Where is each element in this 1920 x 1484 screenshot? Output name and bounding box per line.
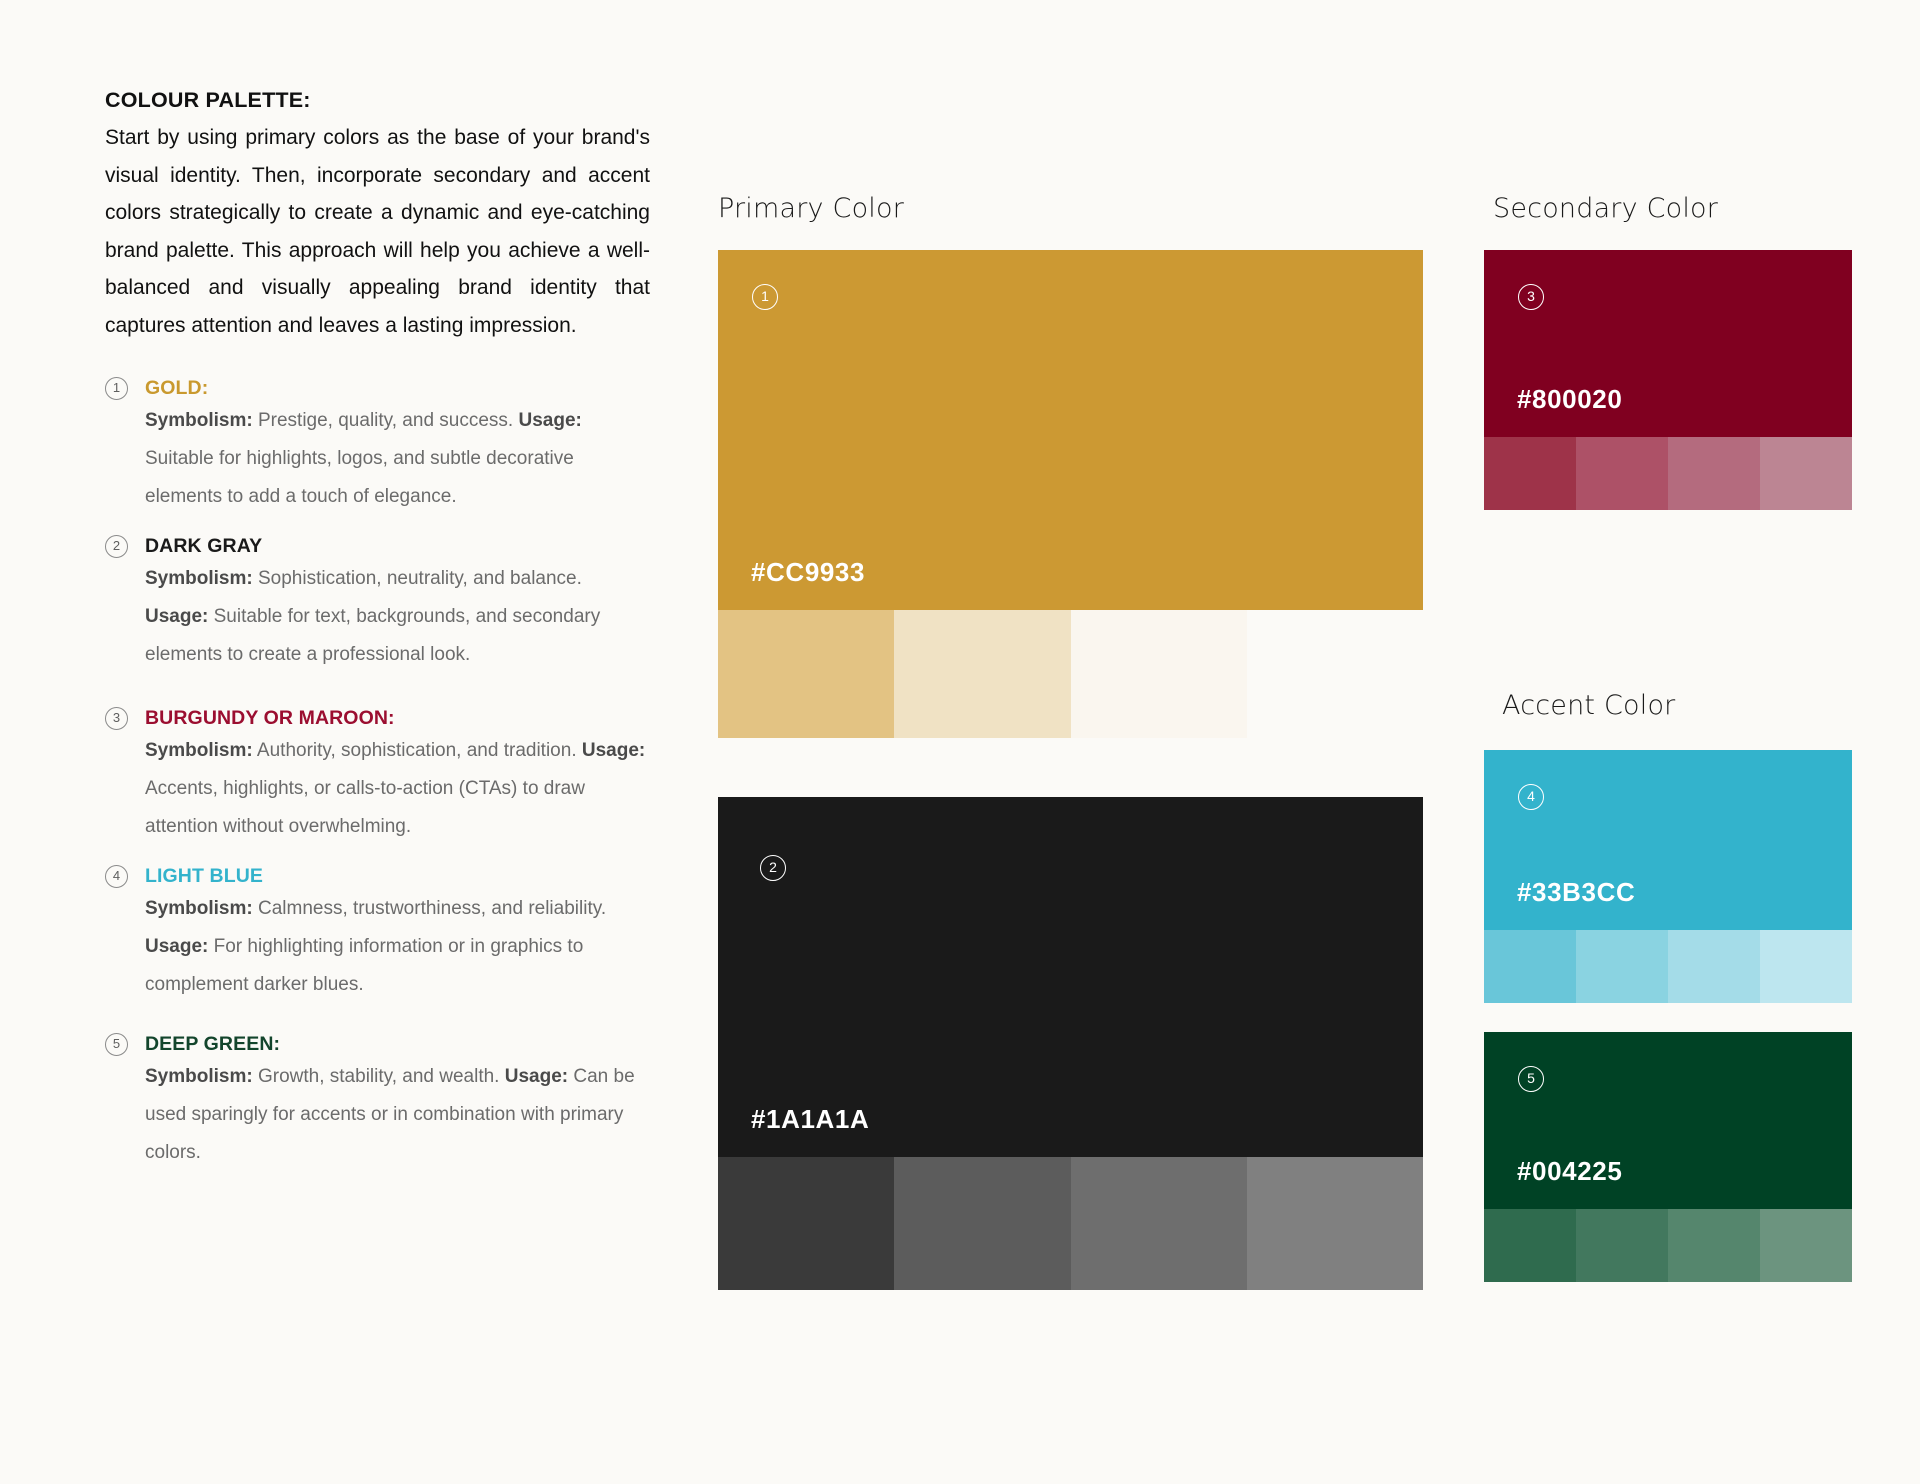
secondary-tint-row xyxy=(1484,437,1852,510)
hex-value: #004225 xyxy=(1517,1156,1622,1187)
usage-label: Usage: xyxy=(145,936,208,957)
swatch-number-badge: 4 xyxy=(1518,784,1544,810)
hex-value: #800020 xyxy=(1517,384,1622,415)
primary-color-swatch: 1 #CC9933 xyxy=(718,250,1423,738)
entry-number-badge: 2 xyxy=(105,535,128,558)
entry-number-badge: 4 xyxy=(105,865,128,888)
palette-description-column: COLOUR PALETTE: Start by using primary c… xyxy=(105,88,650,1188)
usage-text: Suitable for text, backgrounds, and seco… xyxy=(145,606,600,665)
hex-value: #CC9933 xyxy=(751,557,865,588)
tint-swatch xyxy=(718,1157,894,1290)
entry-description: Symbolism: Sophistication, neutrality, a… xyxy=(145,560,650,674)
hex-value: #1A1A1A xyxy=(751,1104,869,1135)
usage-label: Usage: xyxy=(505,1066,568,1087)
deep-green-tint-row xyxy=(1484,1209,1852,1282)
secondary-color-swatch: 3 #800020 xyxy=(1484,250,1852,510)
usage-text: For highlighting information or in graph… xyxy=(145,936,583,995)
deep-green-swatch-main: 5 #004225 xyxy=(1484,1032,1852,1209)
usage-label: Usage: xyxy=(582,740,645,761)
tint-swatch xyxy=(1576,930,1668,1003)
tint-swatch xyxy=(1668,930,1760,1003)
light-blue-swatch-main: 4 #33B3CC xyxy=(1484,750,1852,930)
entry-description: Symbolism: Growth, stability, and wealth… xyxy=(145,1058,650,1172)
list-item: 3 BURGUNDY OR MAROON: Symbolism: Authori… xyxy=(105,704,650,846)
symbolism-text: Prestige, quality, and success. xyxy=(253,410,514,431)
intro-paragraph: Start by using primary colors as the bas… xyxy=(105,119,650,344)
page-title: COLOUR PALETTE: xyxy=(105,88,650,113)
dark-gray-tint-row xyxy=(718,1157,1423,1290)
list-item: 4 LIGHT BLUE Symbolism: Calmness, trustw… xyxy=(105,862,650,1004)
entry-number-badge: 1 xyxy=(105,377,128,400)
usage-text: Accents, highlights, or calls-to-action … xyxy=(145,778,585,837)
entry-number-badge: 5 xyxy=(105,1033,128,1056)
tint-swatch xyxy=(1071,1157,1247,1290)
light-blue-swatch: 4 #33B3CC xyxy=(1484,750,1852,1003)
swatch-number-badge: 1 xyxy=(752,284,778,310)
entry-number-badge: 3 xyxy=(105,707,128,730)
swatch-number-badge: 2 xyxy=(760,855,786,881)
entry-title: DARK GRAY xyxy=(145,532,650,560)
symbolism-label: Symbolism: xyxy=(145,1066,253,1087)
tint-swatch xyxy=(1576,437,1668,510)
symbolism-text: Calmness, trustworthiness, and reliabili… xyxy=(253,898,606,919)
symbolism-label: Symbolism: xyxy=(145,898,253,919)
tint-swatch xyxy=(1484,930,1576,1003)
list-item: 1 GOLD: Symbolism: Prestige, quality, an… xyxy=(105,374,650,516)
usage-text: Suitable for highlights, logos, and subt… xyxy=(145,448,574,507)
tint-swatch xyxy=(1760,1209,1852,1282)
usage-label: Usage: xyxy=(145,606,208,627)
light-blue-tint-row xyxy=(1484,930,1852,1003)
symbolism-label: Symbolism: xyxy=(145,740,253,761)
entry-description: Symbolism: Authority, sophistication, an… xyxy=(145,732,650,846)
secondary-swatch-main: 3 #800020 xyxy=(1484,250,1852,437)
tint-swatch xyxy=(894,610,1070,738)
primary-swatch-main: 1 #CC9933 xyxy=(718,250,1423,610)
entry-title: BURGUNDY OR MAROON: xyxy=(145,704,650,732)
tint-swatch xyxy=(1484,437,1576,510)
tint-swatch xyxy=(1668,1209,1760,1282)
tint-swatch xyxy=(1576,1209,1668,1282)
hex-value: #33B3CC xyxy=(1517,877,1635,908)
swatch-number-badge: 5 xyxy=(1518,1066,1544,1092)
tint-swatch xyxy=(718,610,894,738)
color-entry-list: 1 GOLD: Symbolism: Prestige, quality, an… xyxy=(105,374,650,1172)
entry-description: Symbolism: Prestige, quality, and succes… xyxy=(145,402,650,516)
symbolism-text: Sophistication, neutrality, and balance. xyxy=(253,568,582,589)
tint-spacer xyxy=(1247,610,1423,738)
primary-color-label: Primary Color xyxy=(718,193,904,224)
tint-swatch xyxy=(1760,930,1852,1003)
entry-title: DEEP GREEN: xyxy=(145,1030,650,1058)
entry-description: Symbolism: Calmness, trustworthiness, an… xyxy=(145,890,650,1004)
secondary-color-label: Secondary Color xyxy=(1493,193,1718,224)
tint-swatch xyxy=(1247,1157,1423,1290)
list-item: 2 DARK GRAY Symbolism: Sophistication, n… xyxy=(105,532,650,674)
tint-swatch xyxy=(1760,437,1852,510)
swatch-number-badge: 3 xyxy=(1518,284,1544,310)
list-item: 5 DEEP GREEN: Symbolism: Growth, stabili… xyxy=(105,1030,650,1172)
dark-gray-swatch: 2 #1A1A1A xyxy=(718,797,1423,1290)
usage-label: Usage: xyxy=(518,410,581,431)
tint-swatch xyxy=(1071,610,1247,738)
deep-green-swatch: 5 #004225 xyxy=(1484,1032,1852,1282)
tint-swatch xyxy=(1484,1209,1576,1282)
dark-gray-swatch-main: 2 #1A1A1A xyxy=(718,797,1423,1157)
entry-title: GOLD: xyxy=(145,374,650,402)
tint-swatch xyxy=(894,1157,1070,1290)
accent-color-label: Accent Color xyxy=(1502,690,1675,721)
tint-swatch xyxy=(1668,437,1760,510)
symbolism-label: Symbolism: xyxy=(145,410,253,431)
symbolism-label: Symbolism: xyxy=(145,568,253,589)
entry-title: LIGHT BLUE xyxy=(145,862,650,890)
primary-tint-row xyxy=(718,610,1423,738)
symbolism-text: Growth, stability, and wealth. xyxy=(253,1066,500,1087)
symbolism-text: Authority, sophistication, and tradition… xyxy=(253,740,582,761)
